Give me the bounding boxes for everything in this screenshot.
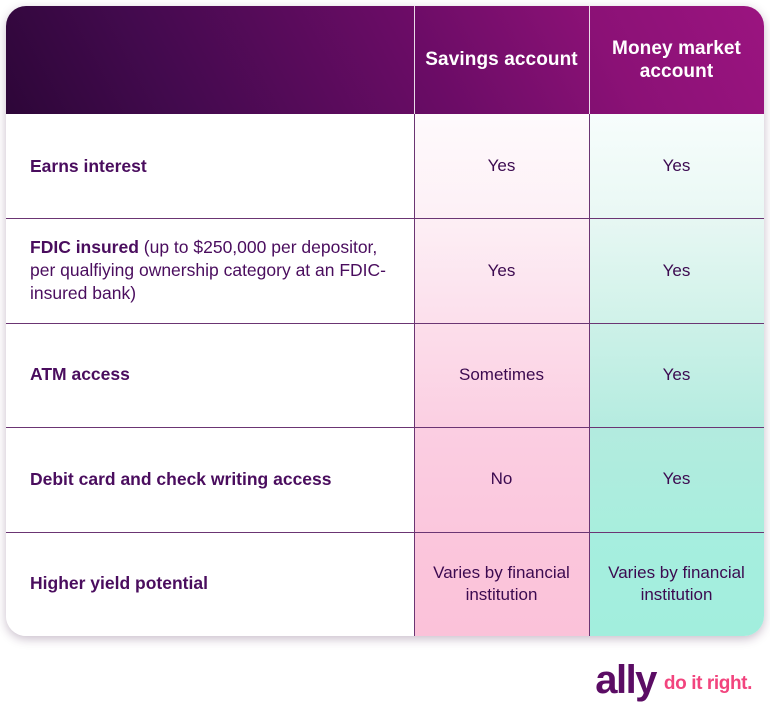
feature-title: Higher yield potential <box>30 573 208 593</box>
feature-title: ATM access <box>30 364 130 384</box>
brand-tagline: do it right. <box>664 674 752 698</box>
cell-savings-value: Yes <box>414 218 589 322</box>
cell-savings-value: Yes <box>414 114 589 218</box>
row-feature-label: Earns interest <box>6 114 414 218</box>
header-cell-feature <box>6 6 414 114</box>
header-cell-savings-account: Savings account <box>414 6 589 114</box>
cell-money-market-value: Yes <box>589 427 764 531</box>
table-row: Debit card and check writing access No Y… <box>6 427 764 531</box>
table-body: Earns interest Yes Yes FDIC insured (up … <box>6 114 764 636</box>
comparison-table: Savings account Money market account Ear… <box>6 6 764 636</box>
row-feature-label: Higher yield potential <box>6 532 414 636</box>
feature-title: FDIC insured <box>30 237 139 257</box>
cell-savings-value: Varies by financial institution <box>414 532 589 636</box>
cell-savings-value: Sometimes <box>414 323 589 427</box>
feature-title: Debit card and check writing access <box>30 469 332 489</box>
header-cell-money-market-account: Money market account <box>589 6 764 114</box>
row-feature-label: Debit card and check writing access <box>6 427 414 531</box>
cell-savings-value: No <box>414 427 589 531</box>
cell-money-market-value: Yes <box>589 114 764 218</box>
table-row: Earns interest Yes Yes <box>6 114 764 218</box>
brand-wordmark: ally <box>595 662 656 698</box>
feature-title: Earns interest <box>30 156 147 176</box>
cell-money-market-value: Varies by financial institution <box>589 532 764 636</box>
table-row: Higher yield potential Varies by financi… <box>6 532 764 636</box>
cell-money-market-value: Yes <box>589 218 764 322</box>
row-feature-label: ATM access <box>6 323 414 427</box>
table-row: ATM access Sometimes Yes <box>6 323 764 427</box>
comparison-table-page: Savings account Money market account Ear… <box>0 0 770 710</box>
row-feature-label: FDIC insured (up to $250,000 per deposit… <box>6 218 414 322</box>
table-header-row: Savings account Money market account <box>6 6 764 114</box>
table-row: FDIC insured (up to $250,000 per deposit… <box>6 218 764 322</box>
cell-money-market-value: Yes <box>589 323 764 427</box>
comparison-table-card: Savings account Money market account Ear… <box>6 6 764 636</box>
brand-logo: ally do it right. <box>595 662 752 698</box>
